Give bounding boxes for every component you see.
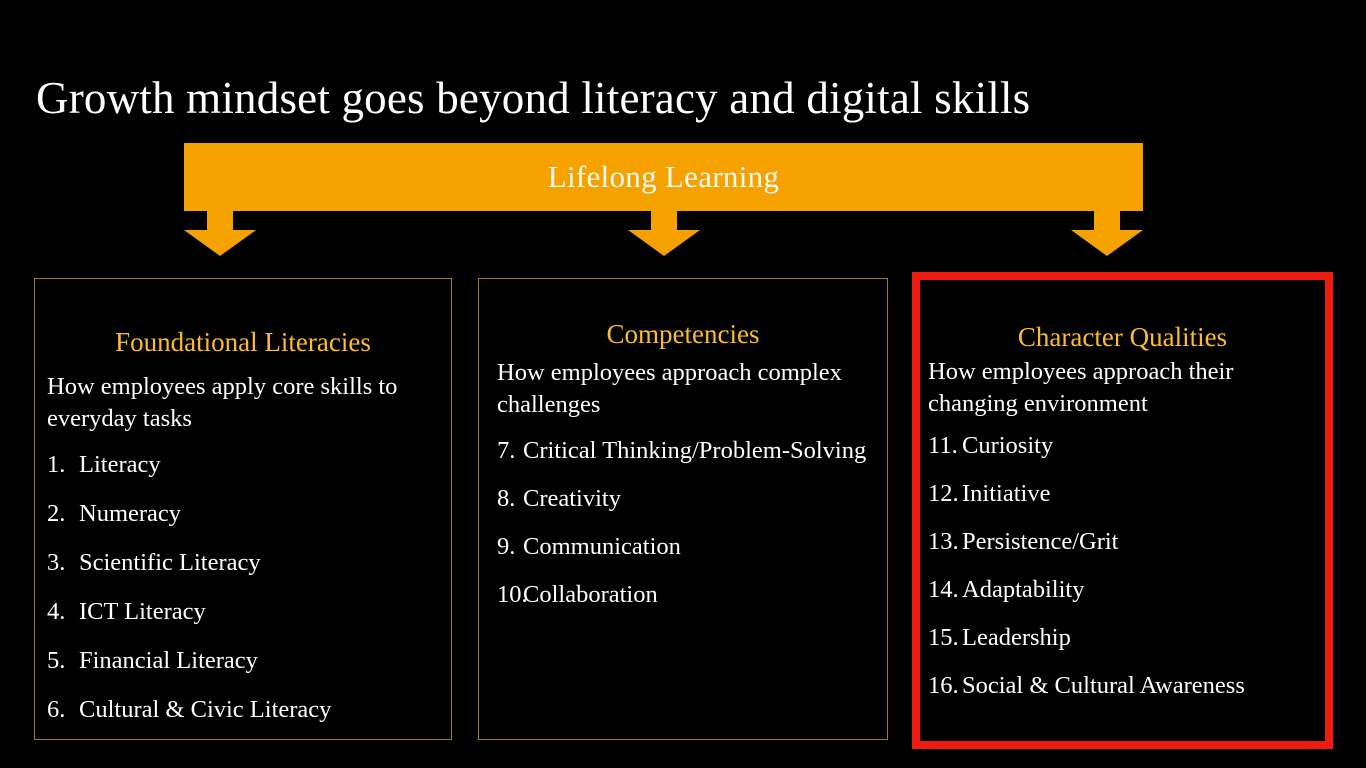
column-competencies: Competencies How employees approach comp… (478, 278, 888, 740)
list-item: 10. Collaboration (497, 579, 873, 610)
column-subtitle: How employees approach complex challenge… (479, 351, 887, 421)
list-item-label: Literacy (79, 449, 441, 480)
column-heading: Competencies (479, 279, 887, 351)
list-item-label: Communication (523, 531, 873, 562)
list-item-number: 10. (497, 579, 523, 610)
arrow-down-icon-center (628, 209, 700, 256)
list-item-number: 8. (497, 483, 523, 514)
list-item-label: Curiosity (962, 430, 1319, 461)
arrow-stem (651, 209, 677, 232)
list-item-number: 9. (497, 531, 523, 562)
banner-label: Lifelong Learning (184, 143, 1143, 211)
list-item-number: 15. (928, 622, 962, 653)
column-heading: Character Qualities (920, 280, 1325, 354)
list-item-label: Adaptability (962, 574, 1319, 605)
list-item: 9. Communication (497, 531, 873, 562)
list-item: 12. Initiative (928, 478, 1319, 509)
list-item: 3. Scientific Literacy (47, 547, 441, 578)
list-item-number: 2. (47, 498, 79, 529)
list-item: 15. Leadership (928, 622, 1319, 653)
list-item-number: 12. (928, 478, 962, 509)
list-item: 14. Adaptability (928, 574, 1319, 605)
column-foundational-literacies: Foundational Literacies How employees ap… (34, 278, 452, 740)
list-item-number: 11. (928, 430, 962, 461)
arrow-down-icon-right (1071, 209, 1143, 256)
list-item-number: 5. (47, 645, 79, 676)
lifelong-learning-banner: Lifelong Learning (184, 143, 1143, 248)
list-item: 4. ICT Literacy (47, 596, 441, 627)
column-list: 11. Curiosity 12. Initiative 13. Persist… (920, 420, 1325, 701)
slide-canvas: Growth mindset goes beyond literacy and … (0, 0, 1366, 768)
list-item: 16. Social & Cultural Awareness (928, 670, 1319, 701)
column-subtitle: How employees apply core skills to every… (35, 359, 451, 435)
list-item-number: 16. (928, 670, 962, 701)
page-title: Growth mindset goes beyond literacy and … (36, 70, 1236, 126)
column-list: 7. Critical Thinking/Problem-Solving 8. … (479, 421, 887, 610)
arrow-head (1071, 230, 1143, 256)
column-list: 1. Literacy 2. Numeracy 3. Scientific Li… (35, 435, 451, 725)
list-item: 5. Financial Literacy (47, 645, 441, 676)
arrow-stem (1094, 209, 1120, 232)
arrow-down-icon-left (184, 209, 256, 256)
list-item-number: 3. (47, 547, 79, 578)
column-heading: Foundational Literacies (35, 279, 451, 359)
list-item-label: Persistence/Grit (962, 526, 1319, 557)
list-item-number: 13. (928, 526, 962, 557)
list-item-label: Leadership (962, 622, 1319, 653)
column-character-qualities: Character Qualities How employees approa… (912, 272, 1333, 749)
list-item-label: Financial Literacy (79, 645, 441, 676)
list-item-label: Creativity (523, 483, 873, 514)
arrow-head (628, 230, 700, 256)
list-item-label: Critical Thinking/Problem-Solving (523, 435, 873, 466)
list-item-label: ICT Literacy (79, 596, 441, 627)
list-item: 2. Numeracy (47, 498, 441, 529)
list-item: 6. Cultural & Civic Literacy (47, 694, 441, 725)
list-item-label: Numeracy (79, 498, 441, 529)
list-item-label: Initiative (962, 478, 1319, 509)
list-item-number: 7. (497, 435, 523, 466)
column-subtitle: How employees approach their changing en… (920, 354, 1325, 420)
list-item: 13. Persistence/Grit (928, 526, 1319, 557)
list-item: 11. Curiosity (928, 430, 1319, 461)
list-item: 7. Critical Thinking/Problem-Solving (497, 435, 873, 466)
list-item-number: 4. (47, 596, 79, 627)
arrow-stem (207, 209, 233, 232)
list-item-label: Scientific Literacy (79, 547, 441, 578)
list-item-number: 14. (928, 574, 962, 605)
list-item: 1. Literacy (47, 449, 441, 480)
list-item-label: Cultural & Civic Literacy (79, 694, 441, 725)
list-item-label: Social & Cultural Awareness (962, 670, 1319, 701)
list-item-number: 1. (47, 449, 79, 480)
list-item-label: Collaboration (523, 579, 873, 610)
list-item-number: 6. (47, 694, 79, 725)
list-item: 8. Creativity (497, 483, 873, 514)
arrow-head (184, 230, 256, 256)
